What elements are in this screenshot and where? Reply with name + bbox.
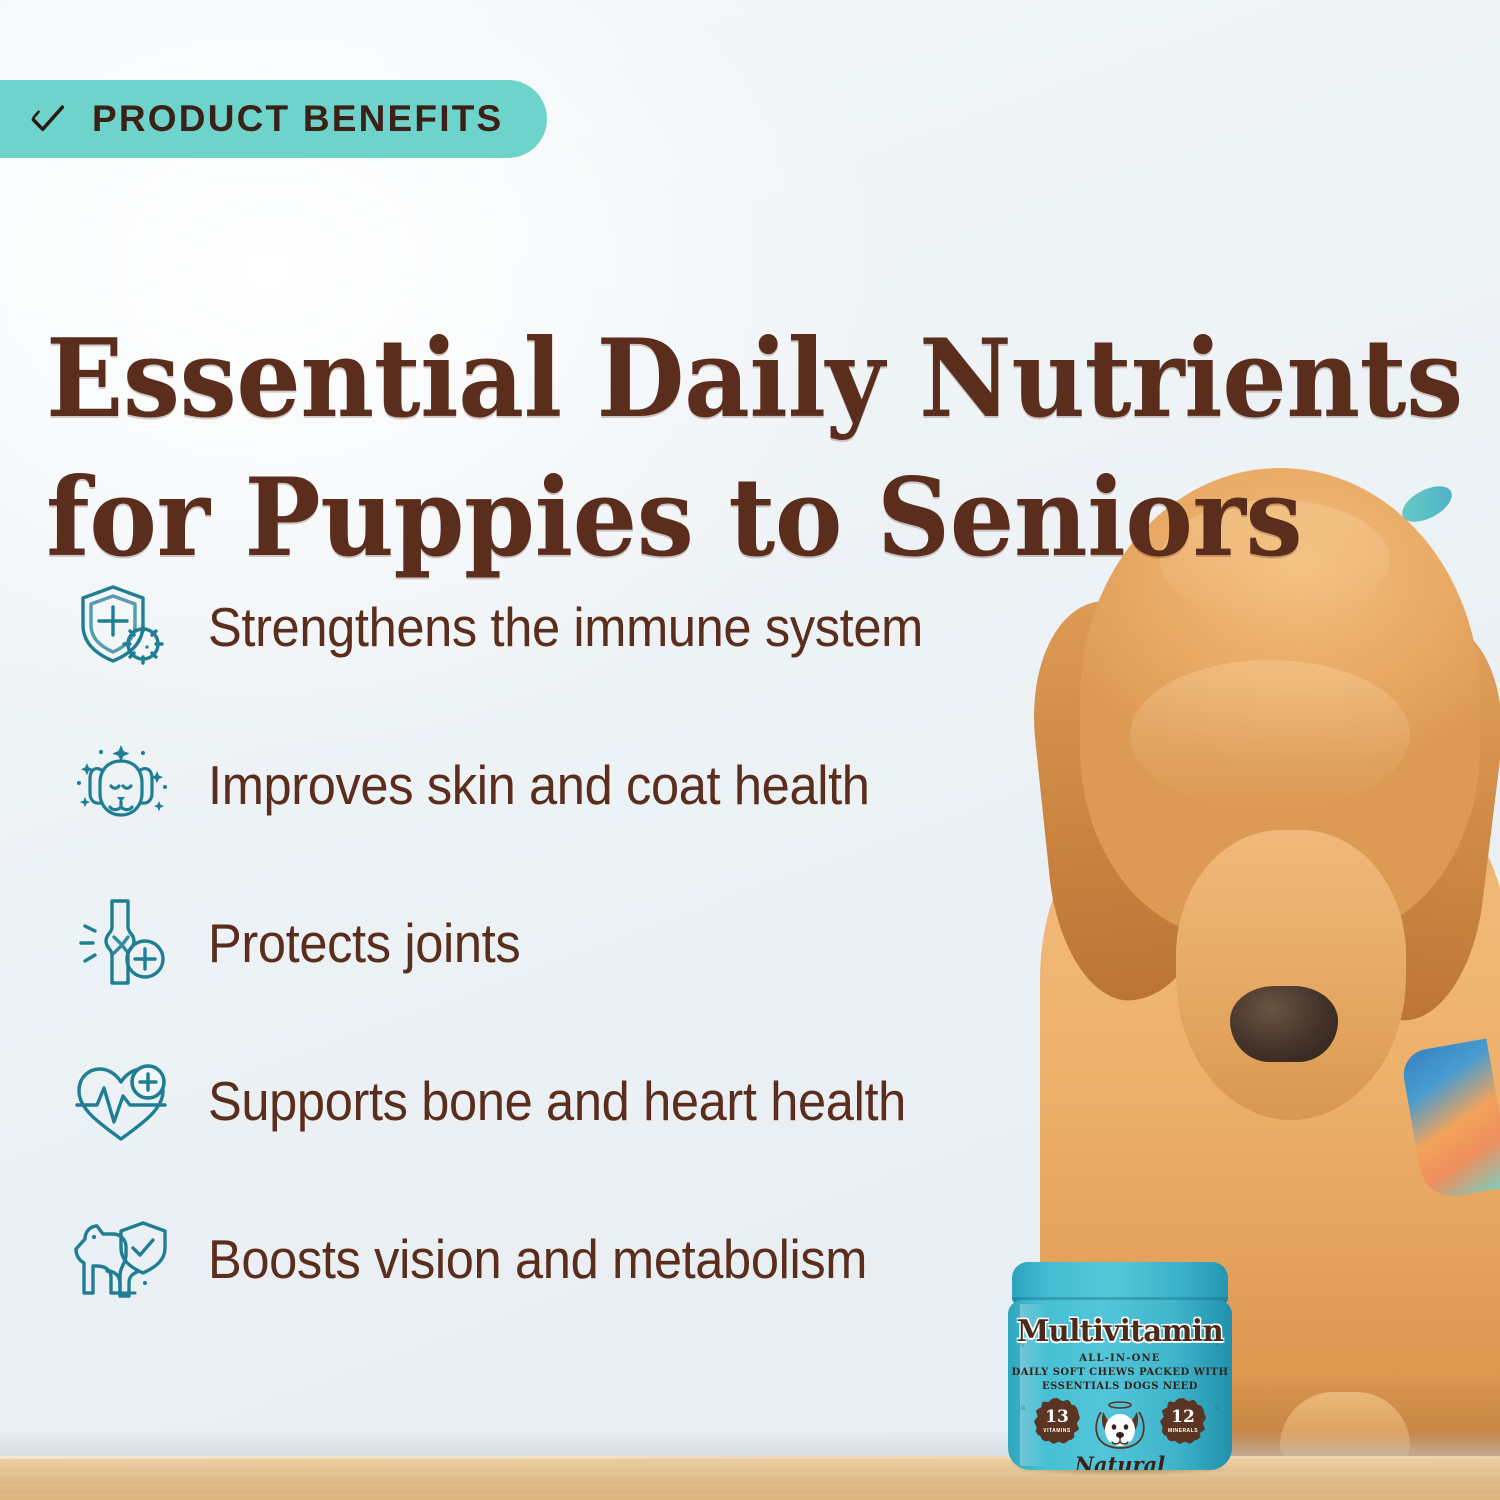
product-jar: Multivitamin ALL-IN-ONE DAILY SOFT CHEWS… <box>1008 1262 1232 1470</box>
dog-muzzle <box>1176 830 1406 1120</box>
bone-joint-cross-icon <box>62 888 180 998</box>
benefit-label: Improves skin and coat health <box>208 753 870 817</box>
jar-body: Multivitamin ALL-IN-ONE DAILY SOFT CHEWS… <box>1008 1300 1232 1470</box>
product-subtitle: ALL-IN-ONE DAILY SOFT CHEWS PACKED WITH … <box>1008 1352 1232 1393</box>
benefit-item: Improves skin and coat health <box>62 706 1082 864</box>
minerals-badge: 12 MINERALS <box>1160 1398 1206 1444</box>
benefit-label: Supports bone and heart health <box>208 1069 906 1133</box>
floor-grain <box>0 1456 1500 1500</box>
brand-name: Natural <box>1008 1452 1232 1470</box>
product-subtitle-line-3: ESSENTIALS DOGS NEED <box>1008 1380 1232 1394</box>
benefit-item: Boosts vision and metabolism <box>62 1180 1082 1338</box>
jar-side-badge-bottom-left: ▤ <box>1015 1406 1031 1412</box>
floor-shadow <box>0 1430 1500 1456</box>
product-benefits-infographic: PRODUCT BENEFITS Essential Daily Nutrien… <box>0 0 1500 1500</box>
dog-shield-check-icon <box>62 1204 180 1314</box>
shield-virus-icon <box>62 572 180 682</box>
page-title: Essential Daily Nutrients for Puppies to… <box>46 310 1381 586</box>
dog-face-sparkle-icon <box>62 730 180 840</box>
minerals-caption: MINERALS <box>1168 1428 1198 1434</box>
dog-nose <box>1230 986 1338 1062</box>
benefit-item: Strengthens the immune system <box>62 548 1082 706</box>
benefit-label: Boosts vision and metabolism <box>208 1227 867 1291</box>
product-benefits-label: PRODUCT BENEFITS <box>92 98 503 140</box>
product-benefits-badge: PRODUCT BENEFITS <box>0 80 547 158</box>
product-title: Multivitamin <box>1011 1314 1228 1349</box>
heart-pulse-cross-icon <box>62 1046 180 1156</box>
wooden-floor <box>0 1456 1500 1500</box>
product-subtitle-line-1: ALL-IN-ONE <box>1008 1352 1232 1366</box>
vitamins-caption: VITAMINS <box>1043 1428 1071 1434</box>
benefit-item: Supports bone and heart health <box>62 1022 1082 1180</box>
french-bulldog-logo-icon <box>1089 1396 1151 1452</box>
benefit-item: Protects joints <box>62 864 1082 1022</box>
benefit-label: Protects joints <box>208 911 520 975</box>
minerals-count: 12 <box>1171 1409 1195 1426</box>
vitamins-count: 13 <box>1045 1409 1069 1426</box>
jar-side-badge-top-left: ✛ <box>1015 1344 1031 1350</box>
benefit-label: Strengthens the immune system <box>208 595 923 659</box>
product-subtitle-line-2: DAILY SOFT CHEWS PACKED WITH <box>1008 1366 1232 1380</box>
benefits-list: Strengthens the immune system <box>62 548 1082 1338</box>
jar-side-badge-bottom-right: ❂ <box>1209 1406 1225 1412</box>
headline-line-1: Essential Daily Nutrients <box>46 310 1381 448</box>
check-icon <box>28 99 68 139</box>
jar-lid <box>1012 1262 1228 1304</box>
jar-side-badge-top-right: ✦ <box>1209 1344 1225 1350</box>
